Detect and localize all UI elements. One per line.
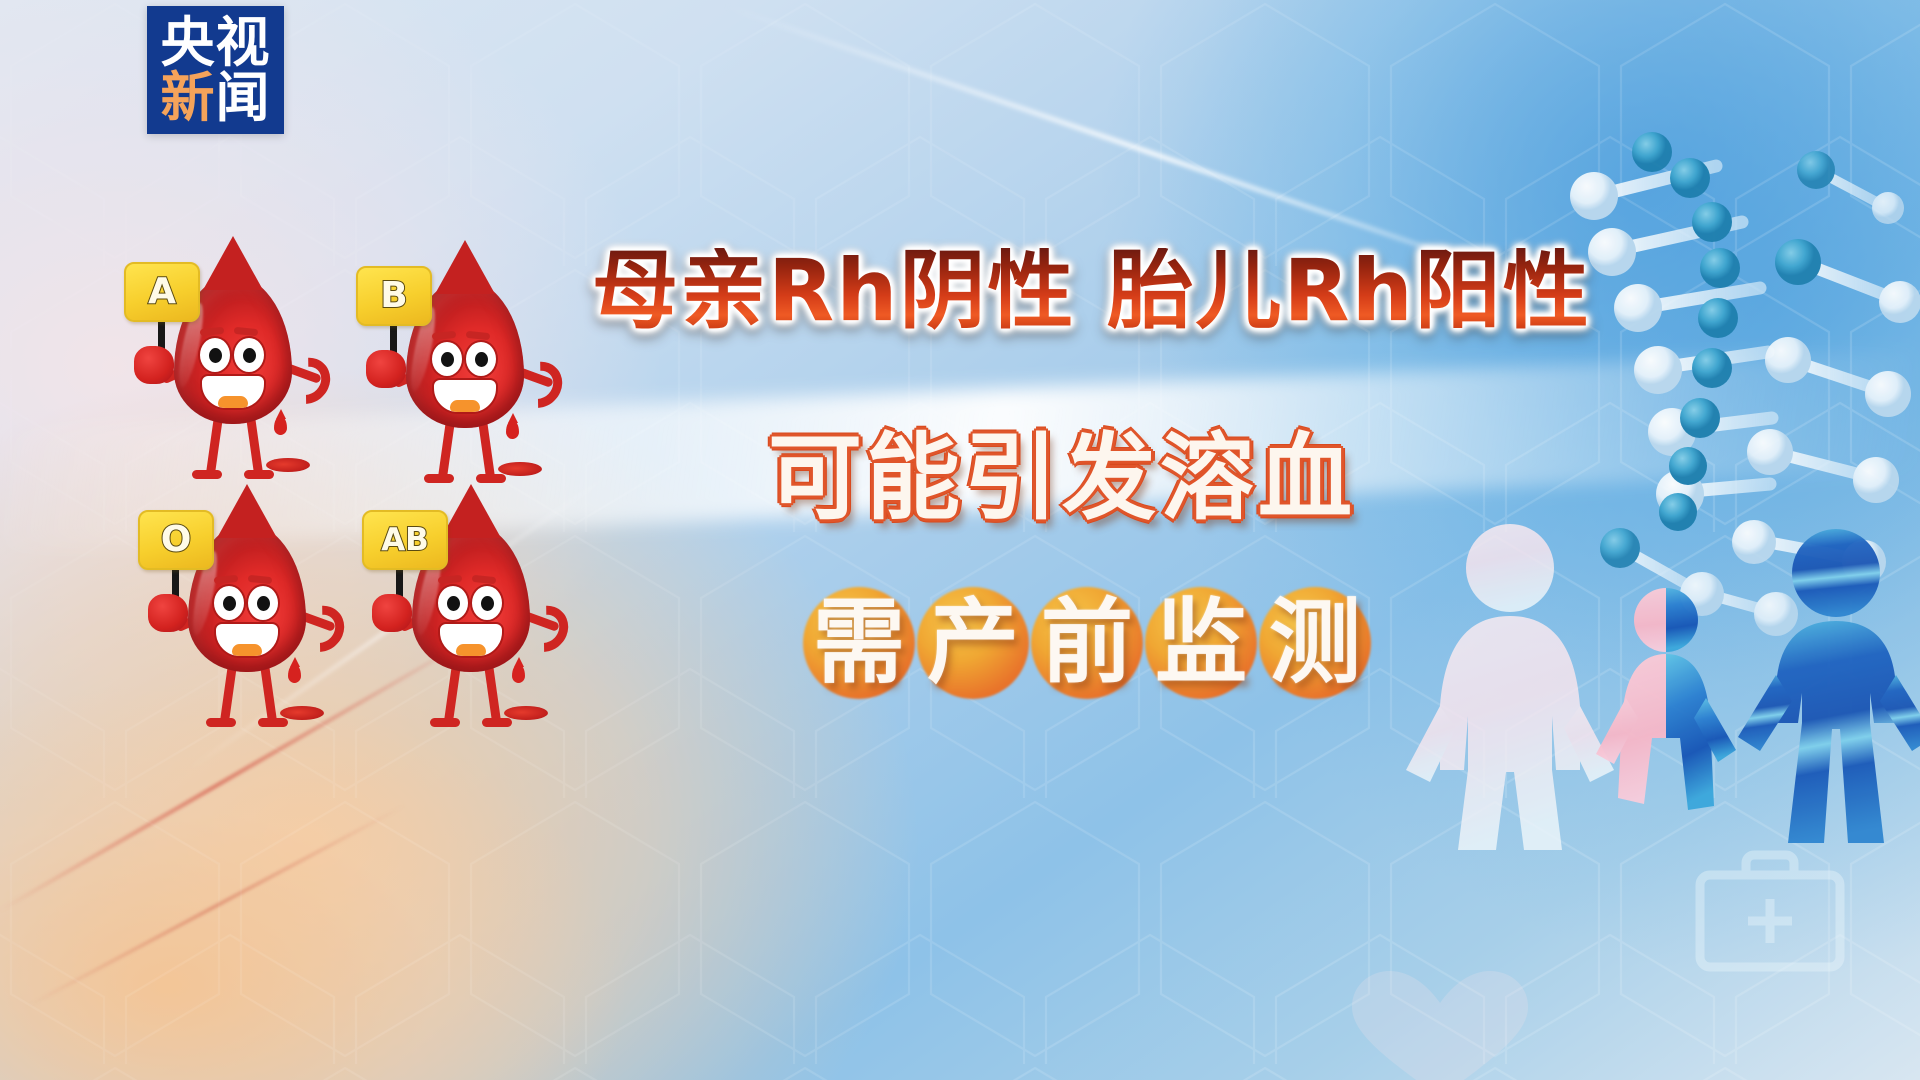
mascot-foot-left <box>206 718 236 727</box>
blood-drop-mascot: A <box>118 262 348 497</box>
mascot-fist <box>372 594 412 632</box>
headline-line-3: 需 产 前 监 测 <box>800 584 1370 702</box>
blood-puddle <box>504 706 548 720</box>
blood-type-label: B <box>380 278 407 314</box>
headline-char-badge: 需 <box>800 584 918 702</box>
mascot-leg-right <box>484 662 502 725</box>
blood-type-label: AB <box>381 525 429 556</box>
blood-puddle <box>266 458 310 472</box>
mascot-eye-left <box>212 584 246 622</box>
mascot-leg-right <box>260 662 278 725</box>
logo-text-wen: 闻 <box>216 70 271 125</box>
headline-char: 监 <box>1155 597 1247 689</box>
cctv-news-logo: 央视 新 闻 <box>147 6 284 134</box>
mascot-foot-left <box>192 470 222 479</box>
blood-type-sign: A <box>124 262 200 322</box>
blood-type-sign: AB <box>362 510 448 570</box>
mascot-foot-right <box>244 470 274 479</box>
blood-drip-icon <box>512 664 525 683</box>
headline-char-badge: 监 <box>1142 584 1260 702</box>
mascot-eye-right <box>232 336 266 374</box>
logo-text-yangshi: 央视 <box>161 15 271 70</box>
mascot-leg-right <box>478 418 496 481</box>
headline-char: 前 <box>1041 597 1133 689</box>
logo-line-1: 央视 <box>161 15 271 70</box>
blood-type-sign: B <box>356 266 432 326</box>
blood-puddle <box>498 462 542 476</box>
blood-type-label: A <box>148 274 176 310</box>
blood-drop-mascot: AB <box>356 510 586 745</box>
mascot-foot-right <box>258 718 288 727</box>
headline-char: 测 <box>1269 597 1361 689</box>
blood-type-mascot-group: A B <box>118 262 638 762</box>
headline-char: 需 <box>813 597 905 689</box>
headline-line-2: 可能引发溶血 <box>768 432 1356 526</box>
headline-char-badge: 产 <box>914 584 1032 702</box>
woman-figure-icon <box>1400 520 1620 860</box>
mascot-eye-right <box>246 584 280 622</box>
blood-drop-mascot: O <box>132 510 362 745</box>
mascot-eye-left <box>430 340 464 378</box>
headline-char-badge: 前 <box>1028 584 1146 702</box>
mascot-fist <box>148 594 188 632</box>
blood-puddle <box>280 706 324 720</box>
mascot-foot-left <box>430 718 460 727</box>
man-figure-icon <box>1736 525 1920 855</box>
child-figure-icon <box>1596 578 1736 828</box>
logo-line-2: 新 闻 <box>161 70 271 125</box>
mascot-foot-left <box>424 474 454 483</box>
news-graphic-stage: 央视 新 闻 A <box>0 0 1920 1080</box>
blood-drip-icon <box>288 664 301 683</box>
blood-drop-mascot: B <box>350 266 580 501</box>
headline-line-1: 母亲Rh阴性 胎儿Rh阳性 <box>592 248 1591 334</box>
blood-type-label: O <box>161 522 192 558</box>
headline-char-badge: 测 <box>1256 584 1374 702</box>
mascot-eye-left <box>198 336 232 374</box>
mascot-foot-right <box>482 718 512 727</box>
blood-type-sign: O <box>138 510 214 570</box>
mascot-fist <box>366 350 406 388</box>
mascot-fist <box>134 346 174 384</box>
mascot-leg-right <box>246 414 264 477</box>
mascot-foot-right <box>476 474 506 483</box>
mascot-eye-right <box>464 340 498 378</box>
blood-drip-icon <box>274 416 287 435</box>
mascot-eye-left <box>436 584 470 622</box>
mascot-eye-right <box>470 584 504 622</box>
logo-text-xin: 新 <box>161 70 216 125</box>
headline-char: 产 <box>927 597 1019 689</box>
blood-drip-icon <box>506 420 519 439</box>
